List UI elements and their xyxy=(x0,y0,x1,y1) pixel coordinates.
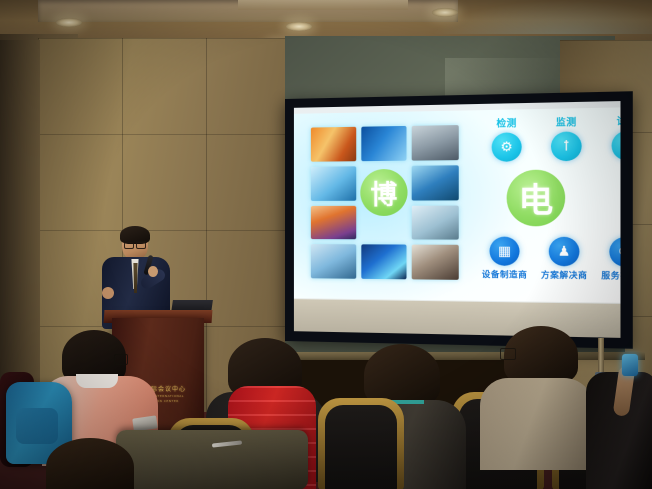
inspection-icon: ⚙ xyxy=(492,132,522,162)
rocket-launch-photo xyxy=(311,205,356,239)
slide-node-label: 监测 xyxy=(556,115,577,129)
screen-surface: 博 电 ⚙ 检测 ꝉ 监测 ▭ 试验 ▦ 设备制造商 xyxy=(294,101,621,338)
downlight-icon xyxy=(286,22,312,31)
testing-icon: ▭ xyxy=(612,130,621,160)
conference-room-photo: 博 电 ⚙ 检测 ꝉ 监测 ▭ 试验 ▦ 设备制造商 xyxy=(0,0,652,489)
slide-node-service-provider: ✇ 服务提供商 xyxy=(594,237,621,282)
slide-node-inspection: ⚙ 检测 xyxy=(477,115,537,162)
attendee-foreground-head xyxy=(46,438,134,489)
glasses-icon xyxy=(500,348,516,360)
slide-node-label: 服务提供商 xyxy=(601,270,620,282)
projected-slide: 博 电 ⚙ 检测 ꝉ 监测 ▭ 试验 ▦ 设备制造商 xyxy=(294,107,621,302)
downlight-icon xyxy=(432,8,458,17)
slide-node-equipment-manufacturer: ▦ 设备制造商 xyxy=(475,237,535,281)
attendee-hair xyxy=(364,344,440,406)
slide-node-label: 检测 xyxy=(496,116,516,130)
projection-screen: 博 电 ⚙ 检测 ꝉ 监测 ▭ 试验 ▦ 设备制造商 xyxy=(285,91,633,349)
attendee-torso xyxy=(480,378,594,470)
gold-banquet-chair xyxy=(318,398,404,489)
solar-panel-array-photo xyxy=(361,126,407,161)
glasses-icon xyxy=(124,241,146,248)
attendee-with-phone xyxy=(586,348,652,489)
slide-node-testing: ▭ 试验 xyxy=(596,113,620,161)
smartphone-icon xyxy=(622,354,638,376)
slide-node-solution-provider: ♟ 方案解决商 xyxy=(534,237,595,282)
downlight-icon xyxy=(56,18,82,27)
brand-circle-left: 博 xyxy=(360,169,407,216)
foreground-chair-back xyxy=(116,430,308,489)
chair-seatback xyxy=(325,405,397,489)
glasses-icon xyxy=(114,354,128,365)
slide-node-label: 试验 xyxy=(617,113,621,127)
monitoring-icon: ꝉ xyxy=(551,131,582,161)
slide-node-label: 方案解决商 xyxy=(541,269,588,281)
attendee-collar xyxy=(76,374,118,388)
circuit-board-photo xyxy=(361,245,407,280)
brand-circle-right: 电 xyxy=(507,170,566,227)
power-transmission-tower-photo xyxy=(311,127,356,162)
sports-car-photo xyxy=(412,125,459,160)
presenter-hand xyxy=(148,266,158,277)
backpack-pocket xyxy=(16,408,58,444)
slide-node-monitoring: ꝉ 监测 xyxy=(536,114,597,161)
high-speed-train-photo xyxy=(311,244,356,278)
solution-provider-icon: ♟ xyxy=(549,237,580,267)
factory-building-photo xyxy=(412,205,459,240)
presenter-hand-gesture xyxy=(102,287,114,299)
airplane-photo xyxy=(311,166,356,200)
ceiling-glow xyxy=(430,0,652,34)
vr-headset-photo xyxy=(412,245,459,280)
service-provider-icon: ✇ xyxy=(609,237,620,267)
attendee-tan-jacket xyxy=(480,326,598,456)
ceiling-soffit-inner xyxy=(238,0,408,10)
slide-node-label: 设备制造商 xyxy=(482,269,528,281)
equipment-manufacturer-icon: ▦ xyxy=(490,237,520,266)
industrial-water-plant-photo xyxy=(412,165,459,200)
